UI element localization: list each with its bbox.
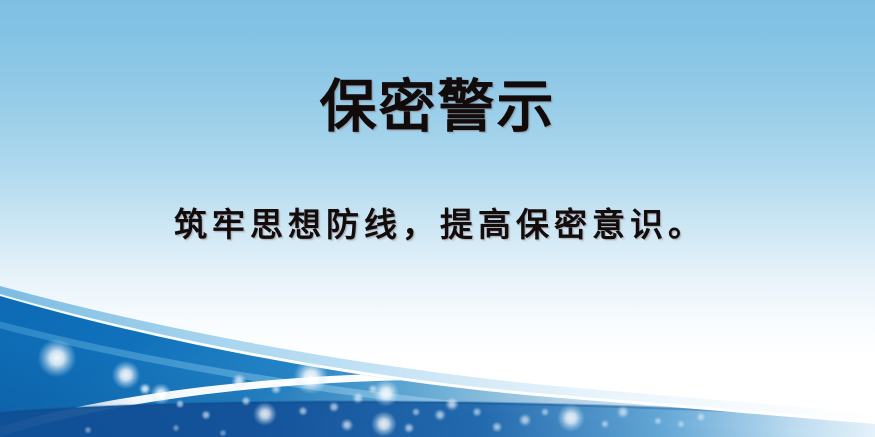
page-title: 保密警示 <box>0 78 875 138</box>
slide-canvas: 保密警示 筑牢思想防线，提高保密意识。 <box>0 0 875 437</box>
slide-subtitle: 筑牢思想防线，提高保密意识。 <box>0 205 875 245</box>
text-layer: 保密警示 筑牢思想防线，提高保密意识。 <box>0 0 875 437</box>
